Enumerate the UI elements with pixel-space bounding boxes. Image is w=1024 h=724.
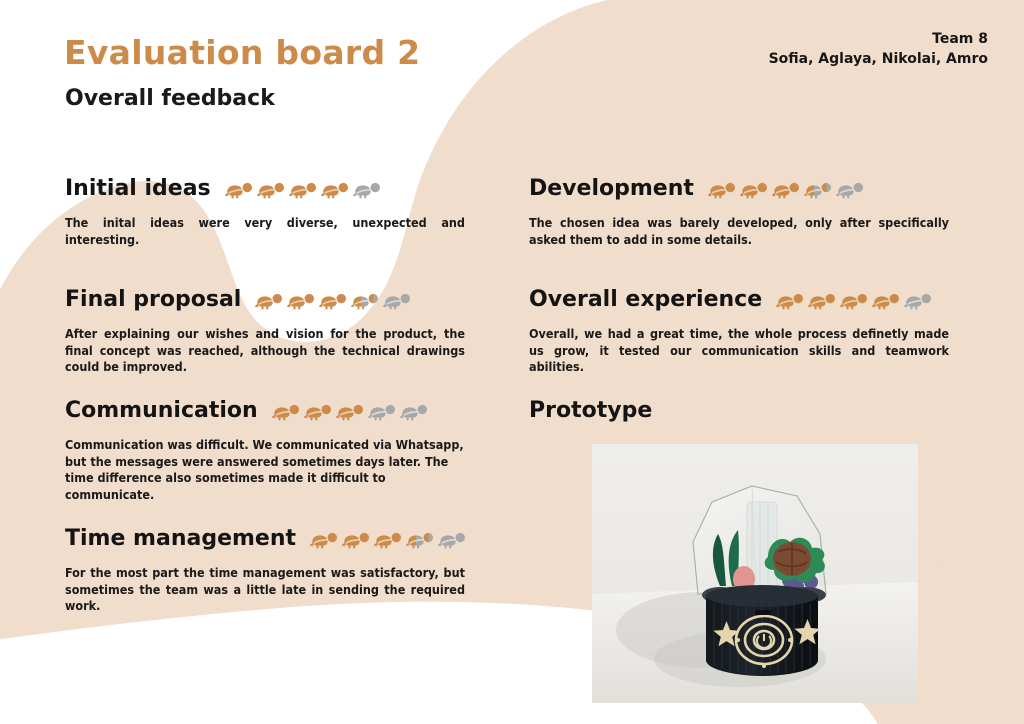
turtle-icon — [368, 398, 396, 423]
turtle-icon — [304, 398, 332, 423]
section-body: Overall, we had a great time, the whole … — [529, 326, 949, 376]
turtle-icon — [272, 398, 300, 423]
turtle-icon — [836, 176, 864, 201]
turtle-icon — [383, 287, 411, 312]
section-body: For the most part the time management wa… — [65, 565, 465, 615]
turtle-icon — [353, 176, 381, 201]
section-body: After explaining our wishes and vision f… — [65, 326, 465, 376]
turtle-icon — [406, 526, 434, 551]
rating-development — [708, 176, 864, 201]
section-title: Initial ideas — [65, 176, 211, 201]
prototype-photo — [592, 444, 918, 703]
turtle-icon — [342, 526, 370, 551]
turtle-icon — [319, 287, 347, 312]
turtle-icon — [438, 526, 466, 551]
turtle-icon — [776, 287, 804, 312]
turtle-icon — [351, 287, 379, 312]
section-development: Development — [529, 176, 949, 248]
turtle-icon — [840, 287, 868, 312]
team-name: Team 8 — [769, 30, 988, 49]
turtle-icon — [808, 287, 836, 312]
rating-time-management — [310, 526, 466, 551]
section-header: Prototype — [529, 398, 949, 423]
turtle-icon — [904, 287, 932, 312]
section-body: The inital ideas were very diverse, unex… — [65, 215, 465, 248]
section-header: Overall experience — [529, 287, 949, 312]
turtle-icon — [740, 176, 768, 201]
section-communication: Communication — [65, 398, 465, 503]
section-title: Time management — [65, 526, 296, 551]
section-time-management: Time management — [65, 526, 465, 615]
section-body: Communication was difficult. We communic… — [65, 437, 465, 503]
turtle-icon — [400, 398, 428, 423]
rating-final-proposal — [255, 287, 411, 312]
section-title: Communication — [65, 398, 258, 423]
section-title: Final proposal — [65, 287, 241, 312]
turtle-icon — [872, 287, 900, 312]
turtle-icon — [257, 176, 285, 201]
turtle-icon — [310, 526, 338, 551]
team-block: Team 8 Sofia, Aglaya, Nikolai, Amro — [769, 30, 988, 69]
rating-communication — [272, 398, 428, 423]
turtle-icon — [804, 176, 832, 201]
evaluation-board: Evaluation board 2 Overall feedback Team… — [0, 0, 1024, 724]
section-title: Prototype — [529, 398, 652, 423]
rating-overall-experience — [776, 287, 932, 312]
team-members: Sofia, Aglaya, Nikolai, Amro — [769, 49, 988, 69]
section-header: Final proposal — [65, 287, 465, 312]
turtle-icon — [321, 176, 349, 201]
turtle-icon — [772, 176, 800, 201]
section-header: Time management — [65, 526, 465, 551]
turtle-icon — [255, 287, 283, 312]
section-header: Communication — [65, 398, 465, 423]
turtle-icon — [225, 176, 253, 201]
page-title: Evaluation board 2 — [64, 33, 420, 72]
turtle-icon — [708, 176, 736, 201]
section-prototype: Prototype — [529, 398, 949, 423]
section-header: Development — [529, 176, 949, 201]
page-subtitle: Overall feedback — [65, 86, 275, 111]
turtle-icon — [289, 176, 317, 201]
turtle-icon — [374, 526, 402, 551]
rating-initial-ideas — [225, 176, 381, 201]
section-header: Initial ideas — [65, 176, 465, 201]
section-title: Overall experience — [529, 287, 762, 312]
section-final-proposal: Final proposal — [65, 287, 465, 376]
section-body: The chosen idea was barely developed, on… — [529, 215, 949, 248]
turtle-icon — [287, 287, 315, 312]
section-initial-ideas: Initial ideas — [65, 176, 465, 248]
turtle-icon — [336, 398, 364, 423]
section-overall-experience: Overall experience — [529, 287, 949, 376]
section-title: Development — [529, 176, 694, 201]
